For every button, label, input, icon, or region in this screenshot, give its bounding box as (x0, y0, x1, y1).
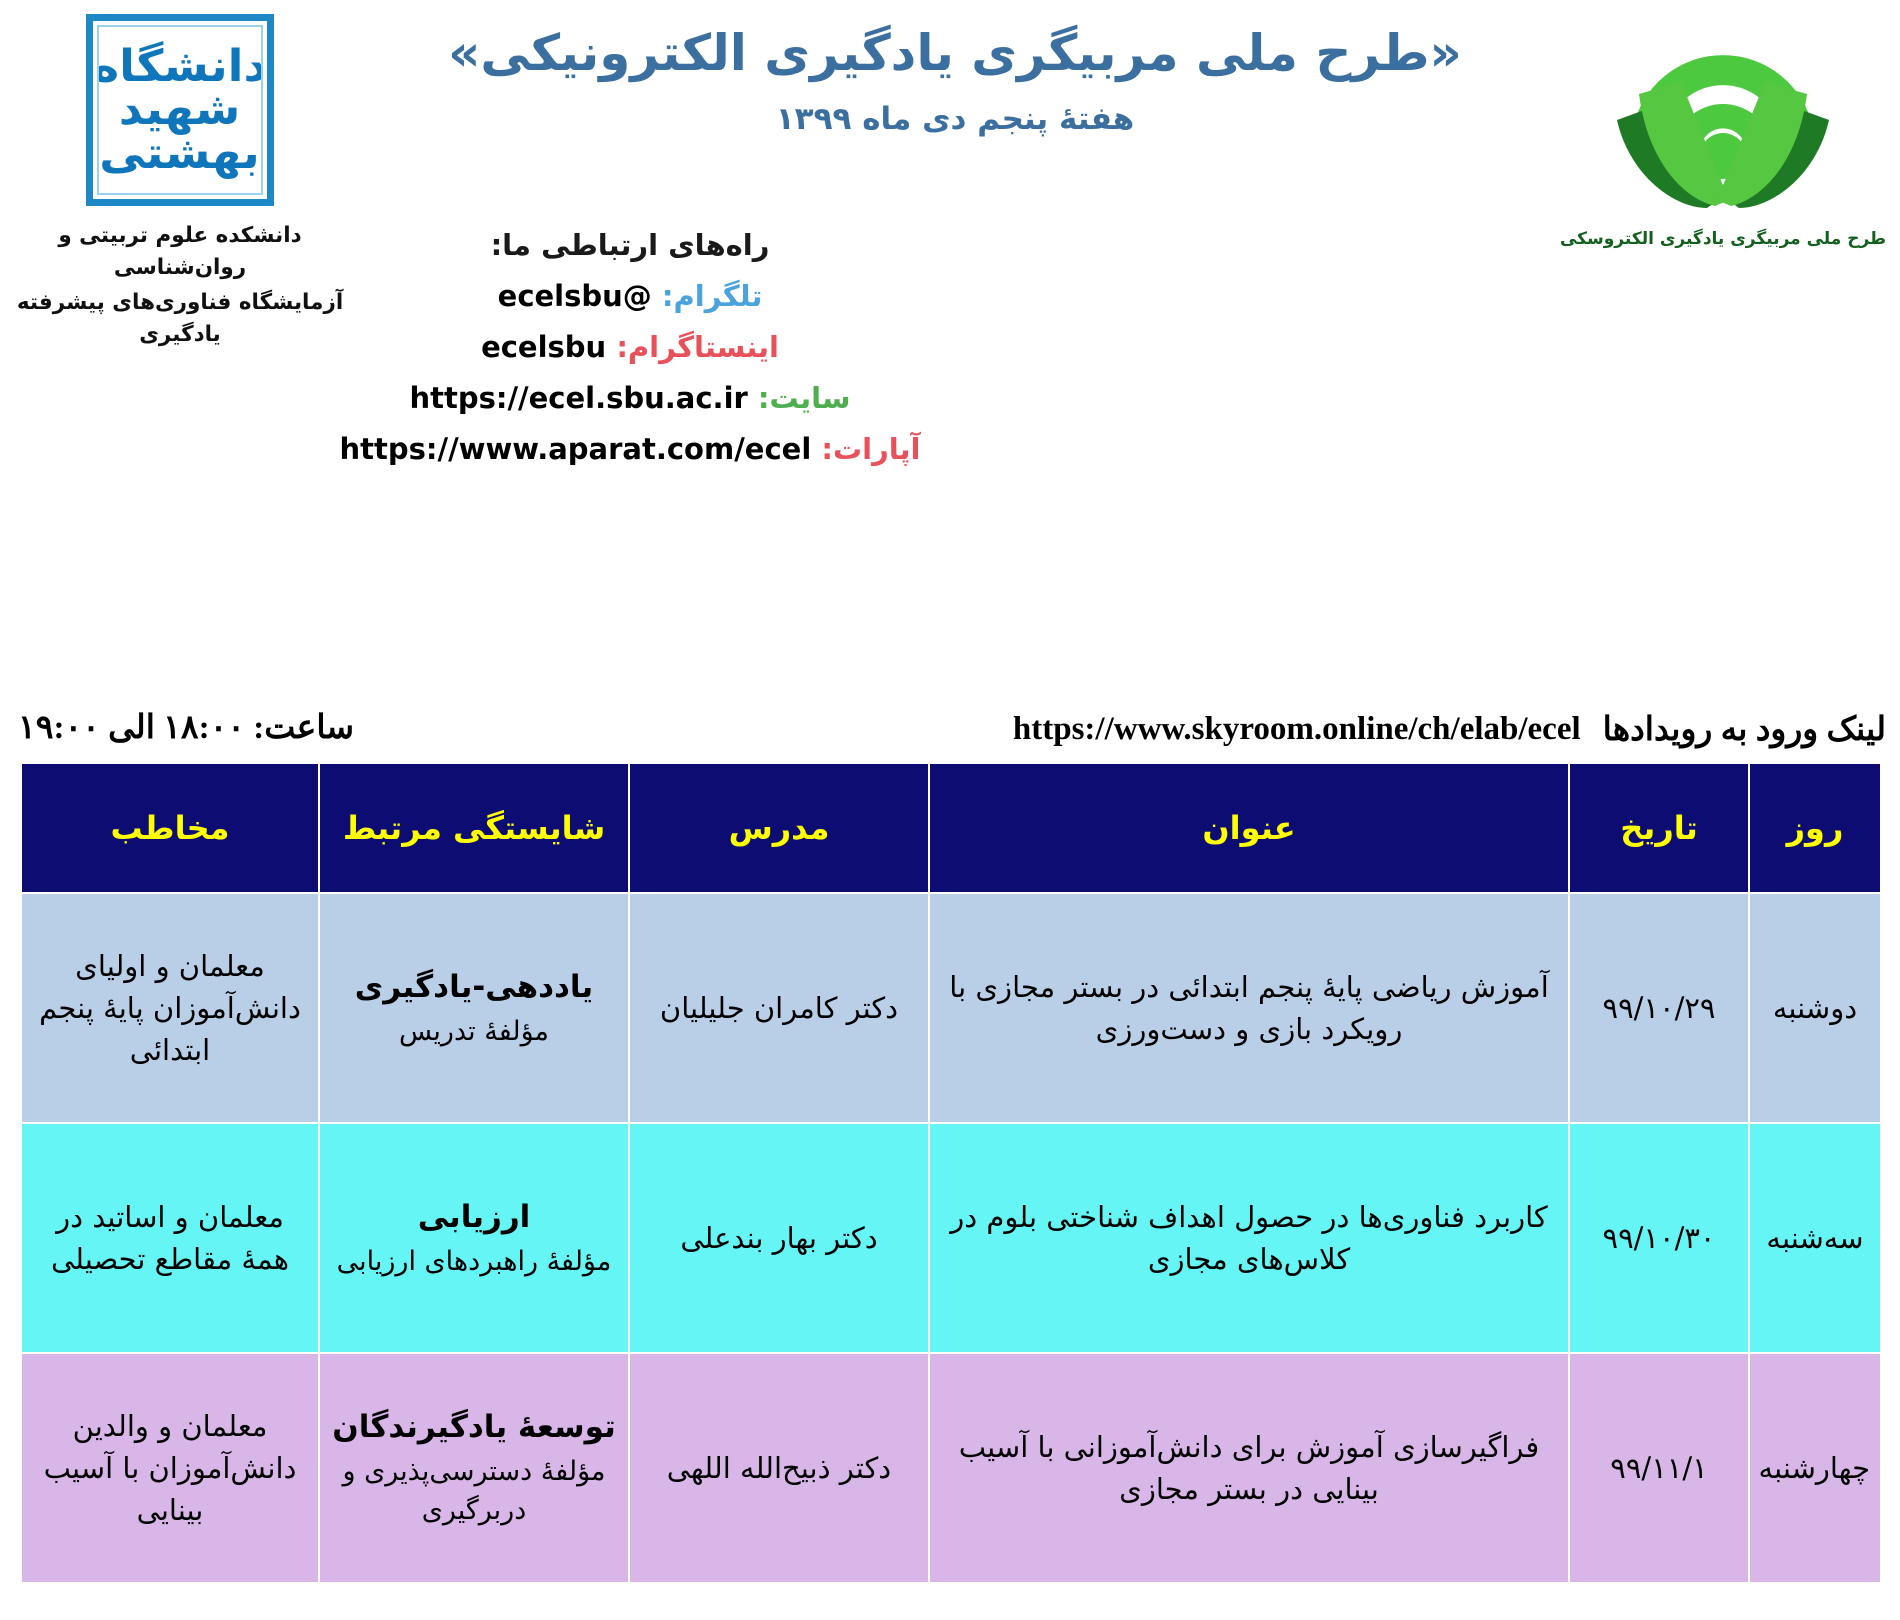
sbu-logo-text: دانشگاه شهید بهشتی (97, 45, 263, 174)
contact-row-site: سایت: https://ecel.sbu.ac.ir (0, 384, 1260, 413)
contact-label-site: سایت (770, 381, 851, 415)
contact-row-aparat: آپارات: https://www.aparat.com/ecel (0, 435, 1260, 464)
cell-audience: معلمان و والدین دانش‌آموزان با آسیب بینا… (21, 1353, 319, 1583)
cell-day: دوشنبه (1749, 893, 1881, 1123)
cell-competency-sub: مؤلفۀ دسترسی‌پذیری و دربرگیری (330, 1452, 618, 1530)
cell-date: ۹۹/۱۰/۲۹ (1569, 893, 1749, 1123)
cell-competency-sub: مؤلفۀ راهبردهای ارزیابی (330, 1242, 618, 1281)
event-link-label: لینک ورود به رویدادها (1603, 709, 1900, 749)
contact-value-site[interactable]: https://ecel.sbu.ac.ir (409, 381, 747, 415)
column-header-date: تاریخ (1569, 763, 1749, 893)
contact-colon-instagram: : (616, 330, 628, 364)
column-header-audience: مخاطب (21, 763, 319, 893)
cell-competency: یاددهی-یادگیری مؤلفۀ تدریس (319, 893, 629, 1123)
contact-colon-site: : (758, 381, 770, 415)
contact-heading: راه‌های ارتباطی ما: (0, 228, 1260, 262)
schedule-table: روز تاریخ عنوان مدرس شایستگی مرتبط مخاطب… (20, 762, 1882, 1584)
cell-title: فراگیرسازی آموزش برای دانش‌آموزانی با آس… (929, 1353, 1569, 1583)
cell-competency: ارزیابی مؤلفۀ راهبردهای ارزیابی (319, 1123, 629, 1353)
contact-label-instagram: اینستاگرام (628, 330, 779, 364)
contact-row-instagram: اینستاگرام: ecelsbu (0, 333, 1260, 362)
title-block: «طرح ملی مربیگری یادگیری الکترونیکی» هفت… (380, 22, 1530, 137)
contact-value-instagram[interactable]: ecelsbu (481, 330, 606, 364)
event-time-label: ساعت: ۱۸:۰۰ الی ۱۹:۰۰ (0, 708, 354, 749)
column-header-title: عنوان (929, 763, 1569, 893)
sbu-university-logo-icon: دانشگاه شهید بهشتی (86, 14, 274, 206)
contact-value-aparat[interactable]: https://www.aparat.com/ecel (340, 432, 812, 466)
cell-date: ۹۹/۱۰/۳۰ (1569, 1123, 1749, 1353)
column-header-competency: شایستگی مرتبط (319, 763, 629, 893)
column-header-day: روز (1749, 763, 1881, 893)
cell-teacher: دکتر ذبیح‌الله اللهی (629, 1353, 929, 1583)
contact-label-aparat: آپارات (833, 432, 921, 466)
contact-row-telegram: تلگرام: @ecelsbu (0, 282, 1260, 311)
column-header-teacher: مدرس (629, 763, 929, 893)
contact-colon-telegram: : (662, 279, 674, 313)
poster-root: دانشگاه شهید بهشتی دانشکده علوم تربیتی و… (0, 0, 1900, 1620)
cell-audience: معلمان و اساتید در همۀ مقاطع تحصیلی (21, 1123, 319, 1353)
cell-day: چهارشنبه (1749, 1353, 1881, 1583)
cell-audience: معلمان و اولیای دانش‌آموزان پایۀ پنجم اب… (21, 893, 319, 1123)
cell-teacher: دکتر بهار بندعلی (629, 1123, 929, 1353)
cell-title: کاربرد فناوری‌ها در حصول اهداف شناختی بل… (929, 1123, 1569, 1353)
cell-teacher: دکتر کامران جلیلیان (629, 893, 929, 1123)
contact-colon-aparat: : (821, 432, 833, 466)
cell-date: ۹۹/۱۱/۱ (1569, 1353, 1749, 1583)
ecel-caption-label: طرح ملی مربیگری یادگیری الکتروسکی (1558, 229, 1888, 249)
cell-competency-main: ارزیابی (330, 1195, 618, 1240)
ecel-wifi-hands-logo-icon (1603, 8, 1843, 223)
table-header-row: روز تاریخ عنوان مدرس شایستگی مرتبط مخاطب (21, 763, 1881, 893)
contact-block: راه‌های ارتباطی ما: تلگرام: @ecelsbu این… (0, 228, 1260, 486)
cell-competency-sub: مؤلفۀ تدریس (330, 1012, 618, 1051)
contact-label-telegram: تلگرام (674, 279, 763, 313)
page-subtitle: هفتۀ پنجم دی ماه ۱۳۹۹ (380, 101, 1530, 137)
event-link-url[interactable]: https://www.skyroom.online/ch/elab/ecel (1013, 711, 1603, 748)
sbu-logo-inner: دانشگاه شهید بهشتی (97, 25, 263, 195)
ecel-logo-block: طرح ملی مربیگری یادگیری الکتروسکی (1558, 8, 1888, 249)
table-row: دوشنبه ۹۹/۱۰/۲۹ آموزش ریاضی پایۀ پنجم اب… (21, 893, 1881, 1123)
contact-value-telegram[interactable]: @ecelsbu (498, 279, 652, 313)
cell-competency-main: توسعۀ یادگیرندگان (330, 1405, 618, 1450)
page-title: «طرح ملی مربیگری یادگیری الکترونیکی» (380, 22, 1530, 85)
schedule-table-body: دوشنبه ۹۹/۱۰/۲۹ آموزش ریاضی پایۀ پنجم اب… (21, 893, 1881, 1583)
table-row: چهارشنبه ۹۹/۱۱/۱ فراگیرسازی آموزش برای د… (21, 1353, 1881, 1583)
cell-day: سه‌شنبه (1749, 1123, 1881, 1353)
event-link-bar: لینک ورود به رویدادها https://www.skyroo… (0, 700, 1900, 758)
cell-competency: توسعۀ یادگیرندگان مؤلفۀ دسترسی‌پذیری و د… (319, 1353, 629, 1583)
schedule-table-head: روز تاریخ عنوان مدرس شایستگی مرتبط مخاطب (21, 763, 1881, 893)
table-row: سه‌شنبه ۹۹/۱۰/۳۰ کاربرد فناوری‌ها در حصو… (21, 1123, 1881, 1353)
cell-title: آموزش ریاضی پایۀ پنجم ابتدائی در بستر مج… (929, 893, 1569, 1123)
cell-competency-main: یاددهی-یادگیری (330, 965, 618, 1010)
